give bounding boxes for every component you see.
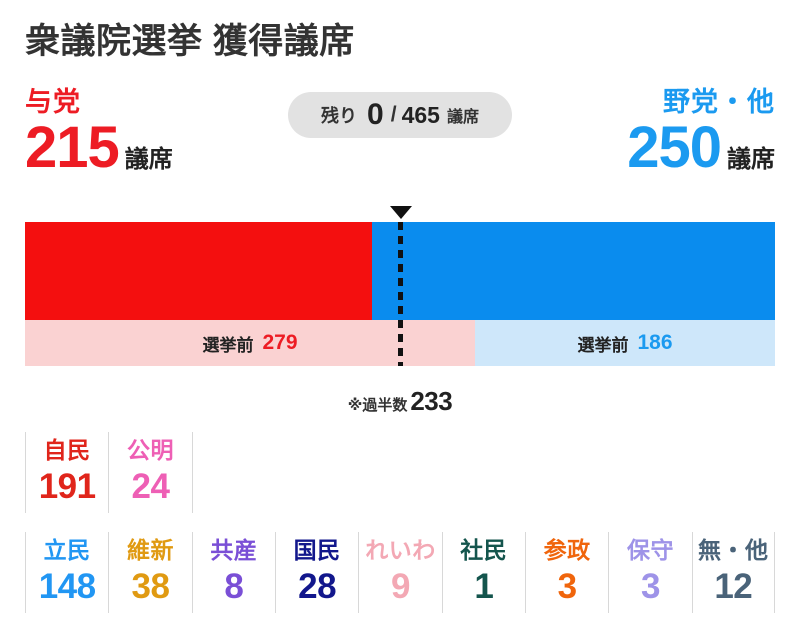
party-seats: 9 xyxy=(391,567,410,607)
bar-segment-ruling xyxy=(25,222,372,320)
party-cell-自民: 自民191 xyxy=(25,432,108,513)
party-cell-無・他: 無・他12 xyxy=(692,532,775,613)
bloc-label-ruling: 与党 xyxy=(25,88,173,116)
party-cell-立民: 立民148 xyxy=(25,532,108,613)
party-cell-公明: 公明24 xyxy=(108,432,191,513)
party-cell-参政: 参政3 xyxy=(525,532,608,613)
party-name: 公明 xyxy=(127,436,174,465)
majority-note: ※過半数 233 xyxy=(0,386,800,417)
bloc-seats-ruling: 215 xyxy=(25,120,119,175)
party-cell-共産: 共産8 xyxy=(192,532,275,613)
page-title: 衆議院選挙 獲得議席 xyxy=(25,13,355,64)
party-seats: 8 xyxy=(224,567,243,607)
party-name: 参政 xyxy=(544,536,591,565)
party-seats: 38 xyxy=(132,567,170,607)
party-seats: 3 xyxy=(558,567,577,607)
party-seats: 191 xyxy=(39,467,96,507)
party-breakdown-opposition: 立民148維新38共産8国民28れいわ9社民1参政3保守3無・他12 xyxy=(25,532,775,613)
party-cell-国民: 国民28 xyxy=(275,532,358,613)
party-name: 無・他 xyxy=(698,536,769,565)
majority-arrow-icon xyxy=(390,206,412,219)
election-seats-infographic: 衆議院選挙 獲得議席 与党 215 議席 野党・他 250 議席 残り 0 / … xyxy=(0,0,800,631)
party-cell-れいわ: れいわ9 xyxy=(358,532,441,613)
bloc-seats-unit-ruling: 議席 xyxy=(125,139,173,174)
remaining-count: 0 xyxy=(367,98,384,132)
majority-threshold-line xyxy=(398,222,403,366)
remaining-total: 465 xyxy=(402,102,440,129)
party-name: 保守 xyxy=(627,536,674,565)
bloc-label-opposition: 野党・他 xyxy=(627,88,775,116)
previous-label-ruling: 選挙前 xyxy=(202,331,253,356)
party-seats: 24 xyxy=(132,467,170,507)
bloc-seats-opposition: 250 xyxy=(627,120,721,175)
bloc-figure-opposition: 250 議席 xyxy=(627,120,775,175)
party-cell-divider-spacer xyxy=(192,432,193,513)
party-seats: 1 xyxy=(474,567,493,607)
party-name: 社民 xyxy=(460,536,507,565)
bloc-summary-ruling: 与党 215 議席 xyxy=(25,88,173,175)
party-seats: 12 xyxy=(714,567,752,607)
previous-label-opposition: 選挙前 xyxy=(577,331,628,356)
bar-previous-opposition: 選挙前 186 xyxy=(475,320,775,366)
majority-note-label: ※過半数 xyxy=(348,394,408,415)
remaining-unit: 議席 xyxy=(447,103,479,127)
party-breakdown-ruling: 自民191公明24 xyxy=(25,432,775,513)
remaining-prefix: 残り xyxy=(321,102,357,128)
bloc-seats-unit-opposition: 議席 xyxy=(727,139,775,174)
previous-seats-ruling: 279 xyxy=(262,331,297,355)
party-cell-維新: 維新38 xyxy=(108,532,191,613)
party-cell-保守: 保守3 xyxy=(608,532,691,613)
remaining-seats-badge: 残り 0 / 465 議席 xyxy=(288,92,512,138)
seats-bar-chart: 選挙前 279 選挙前 186 xyxy=(25,222,775,366)
party-seats: 28 xyxy=(298,567,336,607)
remaining-separator: / xyxy=(391,103,397,127)
bloc-summary-opposition: 野党・他 250 議席 xyxy=(627,88,775,175)
party-name: 立民 xyxy=(44,536,91,565)
party-name: 共産 xyxy=(210,536,257,565)
bloc-figure-ruling: 215 議席 xyxy=(25,120,173,175)
party-cell-社民: 社民1 xyxy=(442,532,525,613)
party-name: 自民 xyxy=(44,436,91,465)
party-seats: 3 xyxy=(641,567,660,607)
party-name: れいわ xyxy=(365,536,436,565)
party-name: 国民 xyxy=(294,536,341,565)
majority-note-value: 233 xyxy=(410,386,452,417)
party-seats: 148 xyxy=(39,567,96,607)
previous-seats-opposition: 186 xyxy=(637,331,672,355)
bar-segment-opposition xyxy=(372,222,775,320)
party-name: 維新 xyxy=(127,536,174,565)
bar-previous-ruling: 選挙前 279 xyxy=(25,320,475,366)
